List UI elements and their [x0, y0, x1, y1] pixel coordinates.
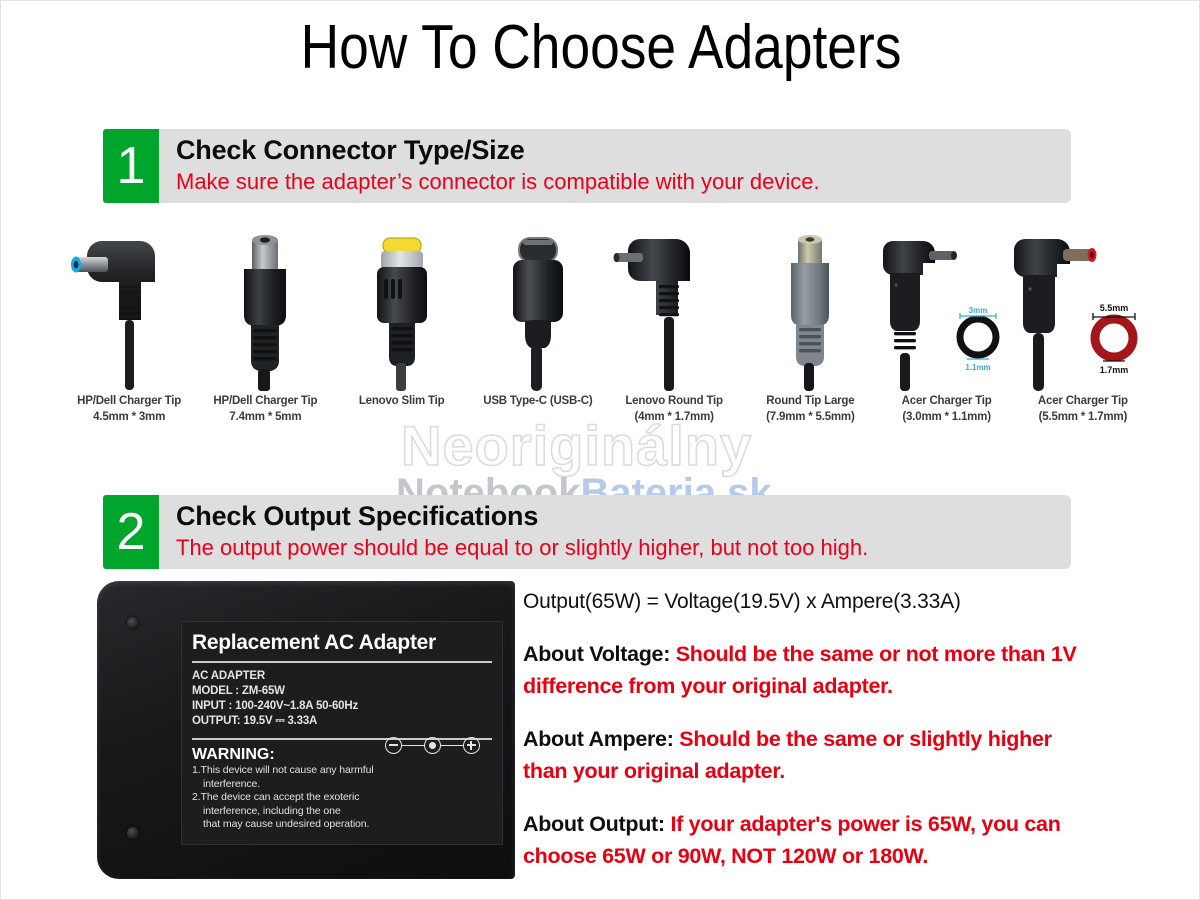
connector-label: Round Tip Large (7.9mm * 5.5mm): [742, 393, 878, 425]
page-title: How To Choose Adapters: [85, 15, 1117, 80]
connector-size: (5.5mm * 1.7mm): [1015, 409, 1151, 425]
polarity-symbol-icon: [385, 737, 480, 754]
connector-gallery: HP/Dell Charger Tip 4.5mm * 3mm: [61, 233, 1151, 443]
connector-label: USB Type-C (USB-C): [470, 393, 606, 409]
tip-dimension-callout: 5.5mm 1.7mm: [1093, 303, 1135, 375]
connector-name: HP/Dell Charger Tip: [213, 395, 317, 407]
about-voltage-key: About Voltage:: [523, 642, 670, 666]
connector-item: HP/Dell Charger Tip 7.4mm * 5mm: [197, 233, 333, 443]
screw-icon: [127, 617, 139, 629]
adapter-type: AC ADAPTER: [192, 669, 492, 684]
connector-name: HP/Dell Charger Tip: [77, 395, 181, 407]
connector-label: HP/Dell Charger Tip 4.5mm * 3mm: [61, 393, 197, 425]
hp-dell-angled-blue-tip-icon: [61, 233, 197, 393]
connector-name: Lenovo Round Tip: [625, 395, 723, 407]
connector-name: Round Tip Large: [766, 395, 854, 407]
warning-line: 2.The device can accept the exoteric: [192, 791, 492, 805]
callout-inner-text: 1.7mm: [1100, 365, 1129, 375]
usb-type-c-plug-icon: [470, 233, 606, 393]
screw-icon: [127, 827, 139, 839]
acer-angled-tip-large-icon: 5.5mm 1.7mm: [1015, 233, 1151, 393]
adapter-output: OUTPUT: 19.5V ⎓ 3.33A: [192, 714, 492, 729]
step-1-header: 1 Check Connector Type/Size Make sure th…: [103, 129, 1071, 203]
connector-item: Lenovo Round Tip (4mm * 1.7mm): [606, 233, 742, 443]
connector-label: HP/Dell Charger Tip 7.4mm * 5mm: [197, 393, 333, 425]
warning-line: 1.This device will not cause any harmful: [192, 764, 492, 778]
connector-item: 3mm 1.1mm Acer Charger Tip (3.0mm * 1.1m…: [879, 233, 1015, 443]
connector-name: USB Type-C (USB-C): [483, 395, 592, 407]
connector-item: USB Type-C (USB-C): [470, 233, 606, 443]
lenovo-slim-rectangular-tip-icon: [334, 233, 470, 393]
about-voltage-value-line1: Should be the same or not more: [676, 642, 996, 666]
callout-outer-text: 3mm: [968, 306, 987, 315]
adapter-spec-label: Replacement AC Adapter AC ADAPTER MODEL …: [181, 621, 503, 845]
callout-outer-text: 5.5mm: [1100, 303, 1129, 313]
connector-size: 4.5mm * 3mm: [61, 409, 197, 425]
acer-angled-tip-small-icon: 3mm 1.1mm: [879, 233, 1015, 393]
about-ampere-value-line1: Should be the same or slightly: [679, 727, 982, 751]
hp-dell-barrel-tip-icon: [197, 233, 333, 393]
warning-line: that may cause undesired operation.: [192, 818, 492, 832]
about-output-value-line1: If your adapter's power is 65W,: [670, 812, 975, 836]
connector-size: 7.4mm * 5mm: [197, 409, 333, 425]
step-1-subtitle: Make sure the adapter’s connector is com…: [176, 167, 1071, 197]
output-spec-text-block: Output(65W) = Voltage(19.5V) x Ampere(3.…: [523, 587, 1093, 872]
connector-size: (4mm * 1.7mm): [606, 409, 742, 425]
connector-item: Lenovo Slim Tip: [334, 233, 470, 443]
label-divider: [192, 661, 492, 663]
connector-name: Acer Charger Tip: [1038, 395, 1128, 407]
connector-label: Lenovo Round Tip (4mm * 1.7mm): [606, 393, 742, 425]
output-equation: Output(65W) = Voltage(19.5V) x Ampere(3.…: [523, 587, 1093, 617]
ac-adapter-brick-image: Replacement AC Adapter AC ADAPTER MODEL …: [97, 581, 515, 879]
about-ampere-key: About Ampere:: [523, 727, 674, 751]
connector-size: (7.9mm * 5.5mm): [742, 409, 878, 425]
about-output: About Output: If your adapter's power is…: [523, 808, 1093, 872]
step-2-number: 2: [103, 495, 159, 569]
adapter-input: INPUT : 100-240V~1.8A 50-60Hz: [192, 699, 492, 714]
connector-label: Acer Charger Tip (3.0mm * 1.1mm): [879, 393, 1015, 425]
step-2-text-block: Check Output Specifications The output p…: [159, 495, 1071, 569]
step-2-subtitle: The output power should be equal to or s…: [176, 533, 1071, 563]
connector-name: Lenovo Slim Tip: [359, 395, 445, 407]
tip-dimension-callout: 3mm 1.1mm: [960, 306, 996, 372]
lenovo-round-angled-tip-icon: [606, 233, 742, 393]
connector-item: Round Tip Large (7.9mm * 5.5mm): [742, 233, 878, 443]
center-dot-ring-icon: [424, 737, 441, 754]
warning-line: interference.: [192, 778, 492, 792]
step-2-title: Check Output Specifications: [176, 499, 1071, 533]
about-ampere: About Ampere: Should be the same or slig…: [523, 723, 1093, 787]
warning-line: interference, including the one: [192, 805, 492, 819]
connector-name: Acer Charger Tip: [902, 395, 992, 407]
step-1-number: 1: [103, 129, 159, 203]
adapter-model: MODEL : ZM-65W: [192, 684, 492, 699]
connector-label: Lenovo Slim Tip: [334, 393, 470, 409]
step-2-header: 2 Check Output Specifications The output…: [103, 495, 1071, 569]
plus-ring-icon: [463, 737, 480, 754]
poster-page: How To Choose Adapters 1 Check Connector…: [0, 0, 1200, 900]
step-1-text-block: Check Connector Type/Size Make sure the …: [159, 129, 1071, 203]
connector-item: 5.5mm 1.7mm Acer Charger Tip (5.5mm * 1.…: [1015, 233, 1151, 443]
round-tip-large-gray-icon: [742, 233, 878, 393]
connector-item: HP/Dell Charger Tip 4.5mm * 3mm: [61, 233, 197, 443]
callout-inner-text: 1.1mm: [965, 363, 990, 372]
minus-ring-icon: [385, 737, 402, 754]
adapter-label-title: Replacement AC Adapter: [192, 630, 492, 656]
about-voltage: About Voltage: Should be the same or not…: [523, 638, 1093, 702]
connector-label: Acer Charger Tip (5.5mm * 1.7mm): [1015, 393, 1151, 425]
about-output-key: About Output:: [523, 812, 665, 836]
step-1-title: Check Connector Type/Size: [176, 133, 1071, 167]
connector-size: (3.0mm * 1.1mm): [879, 409, 1015, 425]
